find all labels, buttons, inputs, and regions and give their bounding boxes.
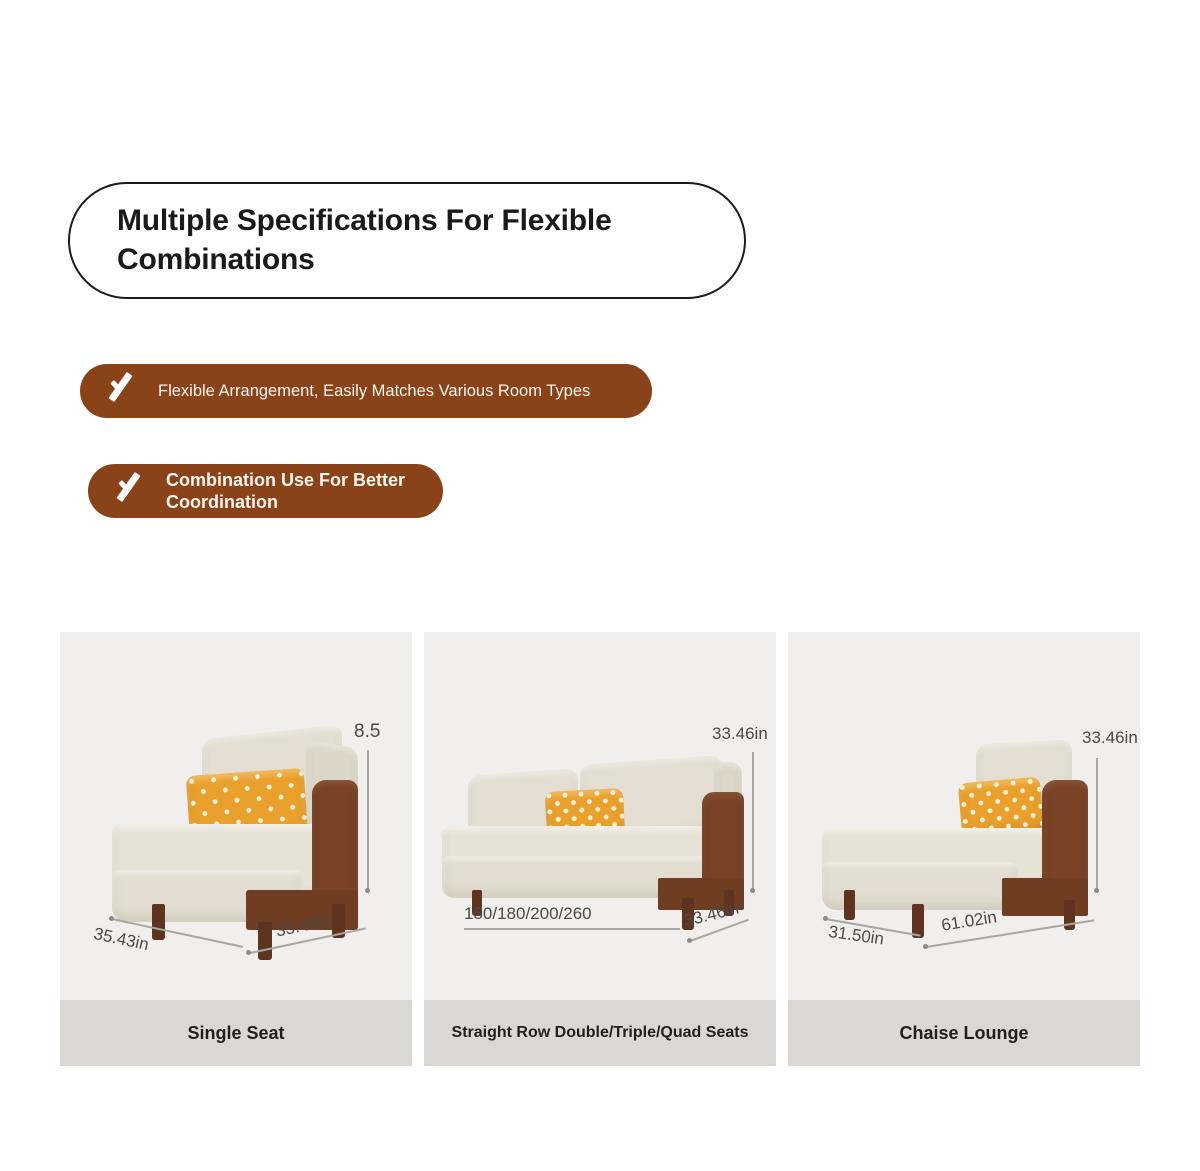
product-image-straight-row: 33.46in 150/180/200/260 33.46in: [424, 632, 776, 1000]
product-card-straight-row[interactable]: 33.46in 150/180/200/260 33.46in Straight…: [424, 632, 776, 1066]
dimension-label-width: 35.43in: [92, 924, 151, 955]
dimension-endpoint: [1094, 888, 1099, 893]
dimension-endpoint: [823, 916, 828, 921]
dimension-label-width: 150/180/200/260: [464, 904, 592, 924]
product-card-row: 8.5 35.43in 33.46in Single Seat: [0, 632, 1200, 1066]
dimension-endpoint: [109, 916, 114, 921]
dimension-line-height: [367, 750, 369, 892]
dimension-label-width: 61.02in: [940, 907, 998, 935]
sofa-leg: [844, 890, 855, 920]
wood-base-rail: [1002, 878, 1088, 916]
product-card-single-seat[interactable]: 8.5 35.43in 33.46in Single Seat: [60, 632, 412, 1066]
product-caption: Chaise Lounge: [899, 1023, 1028, 1044]
feature-badge-label: Flexible Arrangement, Easily Matches Var…: [158, 382, 590, 401]
sofa-leg: [1064, 900, 1075, 930]
dimension-label-height: 33.46in: [712, 724, 768, 744]
sofa-leg: [152, 904, 165, 940]
check-icon: [116, 475, 152, 507]
product-caption: Straight Row Double/Triple/Quad Seats: [452, 1024, 749, 1042]
dimension-endpoint: [923, 944, 928, 949]
sofa-leg: [258, 922, 272, 960]
feature-badge-combination-use: Combination Use For Better Coordination: [88, 464, 443, 518]
dimension-endpoint: [750, 888, 755, 893]
check-icon: [108, 375, 144, 407]
feature-badge-flexible-arrangement: Flexible Arrangement, Easily Matches Var…: [80, 364, 652, 418]
product-caption-bar: Straight Row Double/Triple/Quad Seats: [424, 1000, 776, 1066]
dimension-endpoint: [365, 888, 370, 893]
feature-badge-label: Combination Use For Better Coordination: [166, 469, 443, 514]
product-caption-bar: Single Seat: [60, 1000, 412, 1066]
dimension-label-height: 8.5: [354, 721, 380, 743]
product-image-chaise-lounge: 33.46in 31.50in 61.02in: [788, 632, 1140, 1000]
dimension-label-height: 33.46in: [1082, 728, 1138, 748]
dimension-line-height: [1096, 758, 1098, 892]
product-caption: Single Seat: [187, 1023, 284, 1044]
product-specifications-page: Multiple Specifications For Flexible Com…: [0, 0, 1200, 1171]
dimension-endpoint: [687, 938, 692, 943]
page-title: Multiple Specifications For Flexible Com…: [70, 202, 744, 279]
dimension-line-height: [752, 752, 754, 892]
dimension-endpoint: [246, 950, 251, 955]
product-caption-bar: Chaise Lounge: [788, 1000, 1140, 1066]
product-image-single-seat: 8.5 35.43in 33.46in: [60, 632, 412, 1000]
page-title-pill: Multiple Specifications For Flexible Com…: [68, 182, 746, 299]
product-card-chaise-lounge[interactable]: 33.46in 31.50in 61.02in Chaise Lounge: [788, 632, 1140, 1066]
dimension-line-width: [464, 928, 680, 930]
